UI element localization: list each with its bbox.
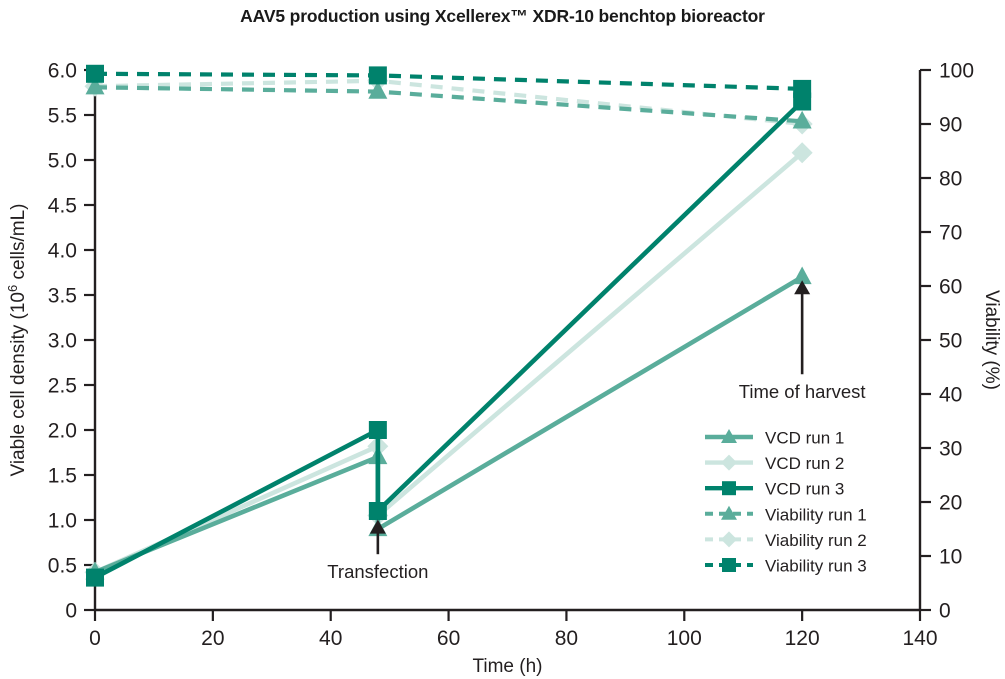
y-tick-label-right: 20	[939, 492, 962, 515]
series-line-vcd-run-2	[95, 153, 802, 572]
legend-marker-square-icon	[722, 481, 736, 495]
x-tick-label: 100	[667, 627, 702, 650]
x-axis-title: Time (h)	[472, 656, 542, 677]
legend-label: Viability run 1	[765, 505, 867, 524]
legend-item-vcd-run-2[interactable]: VCD run 2	[705, 454, 844, 473]
y-tick-label-left: 1.5	[48, 465, 77, 488]
y-tick-label-left: 5.5	[48, 105, 77, 128]
y-tick-label-left: 0.5	[48, 555, 77, 578]
legend-label: VCD run 3	[765, 480, 844, 499]
y-tick-label-left: 1.0	[48, 510, 77, 533]
y-tick-label-left: 2.5	[48, 375, 77, 398]
y-tick-label-right: 50	[939, 330, 962, 353]
y-tick-label-left: 4.5	[48, 195, 77, 218]
y-tick-label-right: 70	[939, 222, 962, 245]
data-point-vcd-run-3	[369, 502, 387, 520]
legend-marker-square-icon	[722, 558, 736, 572]
legend-item-vcd-run-1[interactable]: VCD run 1	[705, 429, 844, 448]
data-point-viability-run-3	[86, 65, 104, 83]
y-tick-label-left: 6.0	[48, 60, 77, 83]
data-point-vcd-run-3	[86, 569, 104, 587]
series-line-viability-run-3	[95, 74, 802, 89]
legend-item-viability-run-1[interactable]: Viability run 1	[705, 505, 867, 524]
legend-label: VCD run 2	[765, 454, 844, 473]
y-tick-label-right: 90	[939, 114, 962, 137]
data-point-vcd-run-3	[369, 421, 387, 439]
legend-marker-diamond-icon	[721, 455, 737, 471]
y-tick-label-right: 100	[939, 60, 974, 83]
y-axis-title-left: Viable cell density (106 cells/mL)	[5, 203, 30, 476]
legend-label: Viability run 2	[765, 531, 867, 550]
series-line-vcd-run-1	[95, 277, 802, 572]
y-tick-label-left: 0	[65, 600, 77, 623]
legend-label: VCD run 1	[765, 429, 844, 448]
data-point-viability-run-3	[369, 66, 387, 84]
y-tick-label-right: 80	[939, 168, 962, 191]
y-tick-label-right: 30	[939, 438, 962, 461]
y-tick-label-left: 2.0	[48, 420, 77, 443]
legend-item-viability-run-2[interactable]: Viability run 2	[705, 531, 867, 550]
legend-item-vcd-run-3[interactable]: VCD run 3	[705, 480, 844, 499]
chart-canvas: 00.51.01.52.02.53.03.54.04.55.05.56.0010…	[0, 0, 1005, 679]
x-tick-label: 40	[319, 627, 342, 650]
y-tick-label-left: 3.5	[48, 285, 77, 308]
y-tick-label-left: 3.0	[48, 330, 77, 353]
x-tick-label: 60	[437, 627, 460, 650]
y-tick-label-right: 60	[939, 276, 962, 299]
x-tick-label: 140	[902, 627, 937, 650]
x-tick-label: 0	[89, 627, 101, 650]
x-tick-label: 20	[201, 627, 224, 650]
annotation-label-time-of-harvest: Time of harvest	[739, 381, 866, 402]
y-tick-label-right: 10	[939, 546, 962, 569]
y-tick-label-left: 4.0	[48, 240, 77, 263]
y-tick-label-left: 5.0	[48, 150, 77, 173]
legend-item-viability-run-3[interactable]: Viability run 3	[705, 557, 867, 576]
data-point-vcd-run-3	[793, 93, 811, 111]
legend-label: Viability run 3	[765, 557, 867, 576]
chart-title: AAV5 production using Xcellerex™ XDR-10 …	[0, 6, 1005, 27]
legend-marker-diamond-icon	[721, 531, 737, 547]
y-tick-label-right: 0	[939, 600, 951, 623]
annotation-label-transfection: Transfection	[327, 561, 428, 582]
x-tick-label: 120	[785, 627, 820, 650]
chart-figure: AAV5 production using Xcellerex™ XDR-10 …	[0, 0, 1005, 679]
x-tick-label: 80	[555, 627, 578, 650]
y-tick-label-right: 40	[939, 384, 962, 407]
series-line-viability-run-1	[95, 87, 802, 121]
y-axis-title-right: Viability (%)	[981, 290, 1002, 390]
